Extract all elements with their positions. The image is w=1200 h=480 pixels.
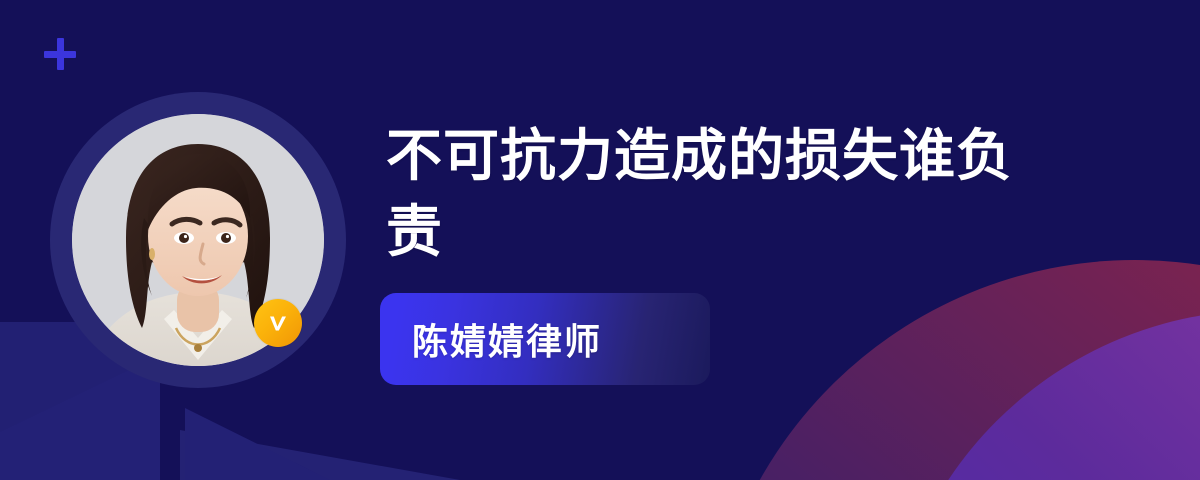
avatar[interactable] <box>50 92 346 388</box>
decor-arc-outer <box>705 260 1200 480</box>
text-column: 不可抗力造成的损失谁负责 <box>386 118 1086 270</box>
verified-check-v-icon <box>270 317 286 331</box>
decor-polygon-triangle <box>185 408 330 480</box>
decor-arc-inner <box>885 310 1200 480</box>
plus-icon <box>44 38 76 70</box>
verified-badge <box>254 299 302 347</box>
author-name-button[interactable]: 陈婧婧律师 <box>380 293 710 385</box>
author-name-label: 陈婧婧律师 <box>380 313 602 365</box>
page-title: 不可抗力造成的损失谁负责 <box>386 118 1066 270</box>
profile-banner: 不可抗力造成的损失谁负责 陈婧婧律师 <box>0 0 1200 480</box>
decor-polygon-wedge <box>180 430 460 480</box>
